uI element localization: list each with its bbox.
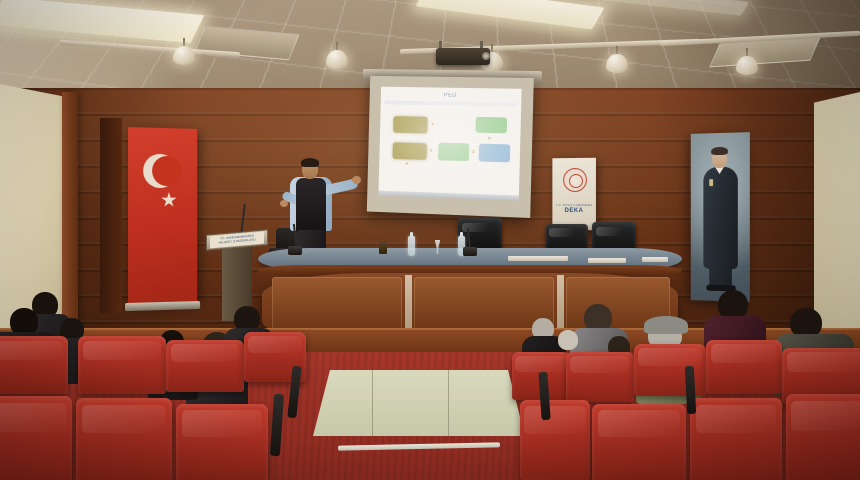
slide-box-green-1: [475, 117, 507, 134]
aisle-tile-seam: [372, 370, 373, 436]
water-bottle: [408, 236, 415, 256]
deka-banner: T.C. DOGU KARADENIZ DEKA: [552, 158, 596, 231]
flat-cap-icon: [644, 316, 688, 334]
deka-banner-label: DEKA: [552, 208, 596, 214]
wall-pillar-left: [62, 92, 78, 337]
projection-screen: PED + = + = +: [367, 76, 534, 218]
slide-content: PED + = + = +: [378, 87, 521, 201]
audience-seat: [634, 344, 706, 396]
person-head: [558, 330, 578, 350]
portrait-medal-icon: [709, 179, 713, 186]
table-microphone-base: [463, 247, 477, 256]
audience-seat: [690, 398, 782, 480]
audience-seat: [176, 404, 268, 480]
spotlight-head: [326, 50, 348, 69]
audience-seat: [0, 336, 68, 394]
audience-seat: [0, 396, 72, 480]
crescent-icon: [143, 154, 177, 189]
turkish-flag-banner: [128, 127, 197, 304]
slide-connector-plus: +: [431, 122, 434, 128]
audience-seat: [166, 340, 244, 392]
deka-seal-icon: [563, 168, 587, 192]
ceiling-spotlight: [605, 46, 629, 72]
slide-box-green-2: [438, 143, 469, 162]
slide-title: PED: [444, 93, 457, 99]
audience-seat: [786, 394, 860, 480]
presenter-vest: [296, 178, 326, 234]
projector-lens: [482, 52, 490, 60]
audience-seat: [706, 340, 782, 394]
portrait-hair: [711, 147, 728, 155]
ceiling-spotlight: [172, 38, 196, 64]
slide-box-blue: [479, 144, 511, 163]
conference-hall-photo: PED + = + = + T.C. DOGU KARADENIZ DEKA: [0, 0, 860, 480]
papers-stack: [642, 257, 668, 262]
side-wall-right: [814, 92, 860, 353]
doorway-right: [758, 110, 786, 328]
doorway-left: [100, 118, 122, 313]
spotlight-head: [173, 46, 195, 65]
star-icon: [161, 192, 177, 208]
coffee-cup: [379, 242, 387, 254]
audience-seat: [520, 400, 590, 480]
audience-seat: [76, 398, 172, 480]
ceiling-spotlight: [735, 48, 759, 74]
table-microphone-base: [288, 246, 302, 255]
portrait-legs: [709, 251, 732, 289]
slide-connector-plus-2: +: [430, 148, 433, 154]
spotlight-head: [736, 56, 758, 75]
papers-stack: [588, 258, 626, 263]
presenter-left-hand: [280, 200, 288, 207]
ataturk-portrait-banner: [691, 132, 750, 302]
center-aisle-tiles: [313, 370, 525, 436]
presenter-hair: [301, 158, 319, 167]
slide-connector-equals-1: =: [488, 136, 491, 142]
papers-stack: [508, 256, 568, 261]
slide-connector-equals-2: =: [472, 149, 475, 155]
ceiling-spotlight: [325, 42, 349, 68]
ceiling-projector: [436, 48, 490, 65]
slide-box-olive-1: [393, 116, 428, 133]
slide-box-olive-2: [393, 142, 428, 160]
aisle-tile-seam: [448, 370, 449, 436]
spotlight-head: [606, 54, 628, 73]
deka-banner-sublabel: T.C. DOGU KARADENIZ: [552, 203, 596, 207]
audience-seat: [566, 352, 634, 402]
slide-toolbar: [384, 100, 517, 106]
audience-seat: [592, 404, 686, 480]
slide-marker: +: [406, 161, 409, 167]
audience-seat: [78, 336, 166, 394]
presenter-right-hand: [352, 176, 361, 184]
